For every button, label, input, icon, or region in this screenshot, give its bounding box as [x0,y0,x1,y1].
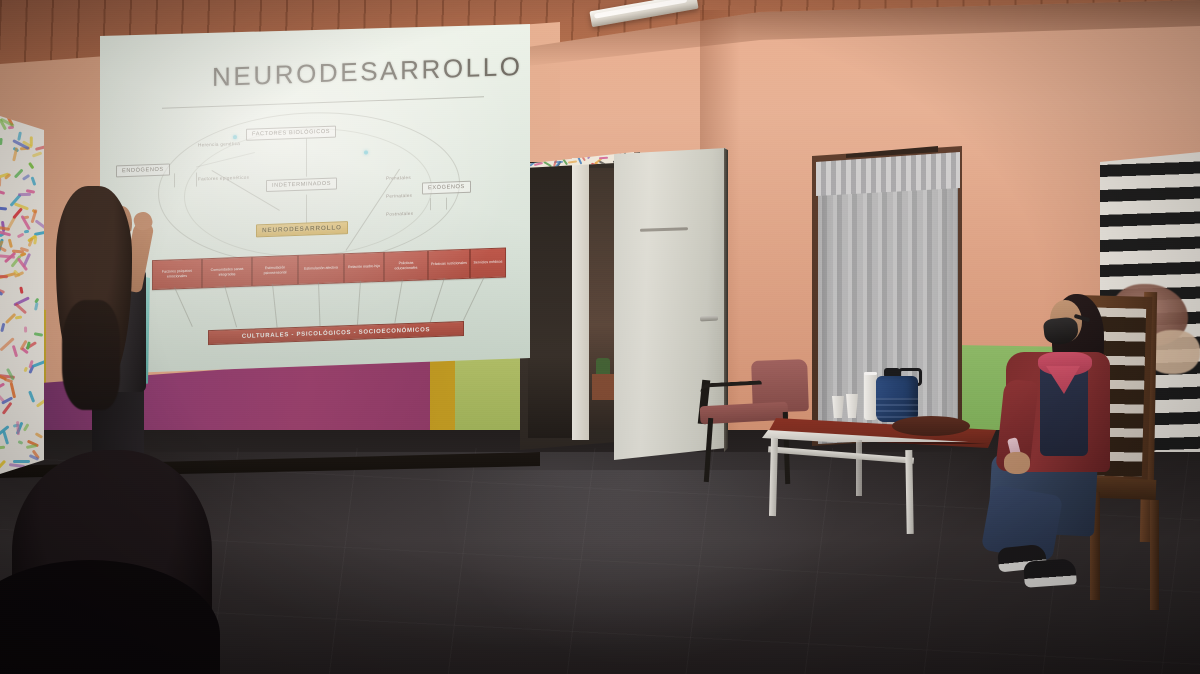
connector-endo-b [196,173,197,187]
node-indeterminados: INDETERMINADOS [266,178,337,193]
confetti-stick [0,190,5,194]
factor-box: Prácticas educacionales [384,250,428,282]
confetti-stick [0,138,3,146]
stem [357,281,361,325]
confetti-stick [12,345,18,358]
factor-box: Comunidades sanas integradas [202,257,252,289]
confetti-stick [14,315,21,319]
connector-exo-b [446,198,447,210]
confetti-stick [34,332,44,336]
confetti-stick [0,322,5,332]
confetti-stick [8,463,24,468]
confetti-stick [24,229,30,233]
confetti-stick [0,207,8,211]
confetti-stick [0,383,5,391]
confetti-stick [15,302,27,313]
bottom-summary-bar: CULTURALES - PSICOLÓGICOS - SOCIOECONÓMI… [208,321,464,345]
sub-prenatales: Prenatales [386,175,411,181]
confetti-stick [23,423,29,431]
confetti-stick [18,193,31,196]
confetti-stick [16,421,20,436]
stem [272,284,278,328]
confetti-stick [18,440,24,444]
door-handle-icon[interactable] [700,316,718,322]
pastries [896,408,968,428]
factor-box: Servicios médicos [470,247,506,278]
stem [318,282,321,326]
confetti-stick [26,444,37,449]
confetti-stick [0,460,6,471]
title-underline [162,96,484,109]
slide-title: NEURODESARROLLO [212,51,523,93]
confetti-stick [22,174,30,180]
factor-box: Prácticas nutricionales [428,249,470,281]
door-jamb [572,158,589,440]
connector-exo-a [430,198,431,210]
sub-perinatales: Perinatales [386,193,412,199]
confetti-decorated-panel [0,116,47,474]
confetti-stick [13,460,30,463]
photo-scene: NEURODESARROLLO FACTORES BIOLÓGICOS ENDÓ… [0,0,1200,674]
sub-postnatales: Postnatales [386,211,413,217]
confetti-stick [17,232,24,237]
factor-box: Factores psíquicos emocionales [152,258,202,290]
confetti-stick [28,162,34,169]
table-leg [856,440,862,496]
confetti-stick [34,302,38,311]
confetti-stick [8,238,13,248]
confetti-stick [28,390,35,402]
potted-plant-icon [596,358,610,374]
confetti-stick [17,131,21,140]
node-endogenos: ENDÓGENOS [116,164,170,178]
table-leg [905,450,913,534]
stem [174,287,193,327]
confetti-stick [30,136,33,146]
attendee-sneaker [1023,558,1077,588]
white-cup[interactable] [846,394,858,418]
stem [394,279,403,323]
hallway-shelf [592,374,614,400]
presenter-hair-lower [62,300,120,410]
confetti-stick [32,152,43,158]
node-exogenos: EXÓGENOS [422,181,471,195]
confetti-stick [4,313,15,324]
factor-box: Estimulación psicosensorial [252,255,298,287]
slide-content: NEURODESARROLLO FACTORES BIOLÓGICOS ENDÓ… [100,9,530,374]
connector-endo-a [174,173,175,187]
attendee-hand [1004,452,1030,474]
confetti-stick [19,287,23,295]
factor-box: Estimulación afectiva [298,253,344,285]
floor-reflection-2 [430,470,850,670]
factor-box: Relación madre-hijo [344,252,384,283]
white-cup[interactable] [832,396,844,418]
connector-top-middle [306,139,307,177]
stem [224,285,237,327]
confetti-stick [0,445,6,448]
hallway-opening [528,162,572,438]
wooden-chair-leg [1150,500,1159,610]
stem [463,276,485,320]
garland-stick [568,160,577,163]
confetti-stick [31,176,37,186]
confetti-stick [24,326,27,332]
confetti-stick [3,430,9,444]
confetti-stick [0,178,1,187]
garland-stick [599,157,608,160]
confetti-stick [23,366,27,372]
confetti-stick [0,254,15,258]
confetti-stick [35,432,43,438]
stem [430,278,445,323]
